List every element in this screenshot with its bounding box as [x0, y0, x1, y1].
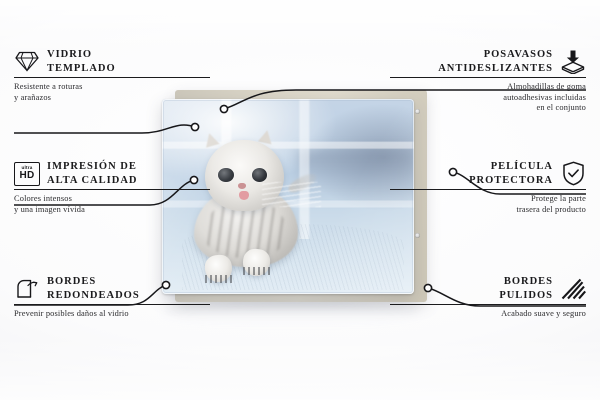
feature-description: Resistente a roturas y arañazos [14, 82, 210, 103]
feature-title-line1: POSAVASOS [484, 49, 553, 60]
feature-title-line2: TEMPLADO [47, 63, 116, 74]
feature-posavasos-antideslizantes: POSAVASOS ANTIDESLIZANTES Almohadillas d… [390, 48, 586, 114]
kitten-toes-right [243, 267, 270, 275]
feature-heading: POSAVASOS ANTIDESLIZANTES [390, 48, 586, 75]
feature-desc-line2: y arañazos [14, 93, 51, 102]
feature-heading: VIDRIO TEMPLADO [14, 48, 210, 75]
feature-divider [14, 304, 210, 305]
kitten-eye-left [218, 168, 234, 182]
hd-badge-hd-text: HD [19, 171, 34, 181]
feature-heading: PELÍCULA PROTECTORA [390, 160, 586, 187]
feature-title-line2: PROTECTORA [469, 175, 553, 186]
feature-desc-line1: Colores intensos [14, 194, 72, 203]
feature-title: POSAVASOS ANTIDESLIZANTES [438, 48, 553, 75]
feature-heading: ultra HD IMPRESIÓN DE ALTA CALIDAD [14, 160, 210, 187]
anti-slip-pad-icon [560, 49, 586, 75]
rounded-corner-icon [14, 276, 40, 302]
hatch-lines-icon [560, 276, 586, 302]
feature-title-line2: REDONDEADOS [47, 290, 140, 301]
feature-title-line2: PULIDOS [499, 290, 553, 301]
feature-title: IMPRESIÓN DE ALTA CALIDAD [47, 160, 137, 187]
feature-title: VIDRIO TEMPLADO [47, 48, 116, 75]
feature-title-line1: BORDES [504, 276, 553, 287]
mounting-screw-icon [415, 233, 420, 238]
feature-title-line1: VIDRIO [47, 49, 92, 60]
feature-desc-line1: Prevenir posibles daños al vidrio [14, 309, 129, 318]
feature-description: Protege la parte trasera del producto [390, 194, 586, 215]
feature-desc-line3: en el conjunto [536, 103, 586, 112]
feature-desc-line2: autoadhesivas incluidas [503, 93, 586, 102]
feature-description: Acabado suave y seguro [390, 309, 586, 320]
feature-impresion-alta-calidad: ultra HD IMPRESIÓN DE ALTA CALIDAD Color… [14, 160, 210, 215]
infographic-stage: VIDRIO TEMPLADO Resistente a roturas y a… [0, 0, 600, 400]
feature-bordes-pulidos: BORDES PULIDOS Acabado suave y seguro [390, 275, 586, 320]
feature-title: BORDES REDONDEADOS [47, 275, 140, 302]
feature-desc-line1: Resistente a roturas [14, 82, 83, 91]
feature-divider [14, 189, 210, 190]
feature-title: BORDES PULIDOS [499, 275, 553, 302]
kitten-eye-right [252, 168, 268, 182]
feature-title-line2: ANTIDESLIZANTES [438, 63, 553, 74]
feature-vidrio-templado: VIDRIO TEMPLADO Resistente a roturas y a… [14, 48, 210, 103]
feature-pelicula-protectora: PELÍCULA PROTECTORA Protege la parte tra… [390, 160, 586, 215]
feature-divider [390, 304, 586, 305]
feature-desc-line1: Protege la parte [531, 194, 586, 203]
feature-description: Colores intensos y una imagen vívida [14, 194, 210, 215]
feature-title: PELÍCULA PROTECTORA [469, 160, 553, 187]
feature-description: Almohadillas de goma autoadhesivas inclu… [390, 82, 586, 114]
kitten-ear-left [202, 132, 219, 148]
diamond-icon [14, 49, 40, 75]
feature-heading: BORDES REDONDEADOS [14, 275, 210, 302]
feature-heading: BORDES PULIDOS [390, 275, 586, 302]
feature-divider [390, 77, 586, 78]
feature-bordes-redondeados: BORDES REDONDEADOS Prevenir posibles dañ… [14, 275, 210, 320]
hd-badge-box: ultra HD [14, 162, 40, 186]
feature-divider [390, 189, 586, 190]
feature-desc-line1: Almohadillas de goma [507, 82, 586, 91]
feature-title-line2: ALTA CALIDAD [47, 175, 137, 186]
feature-divider [14, 77, 210, 78]
feature-title-line1: IMPRESIÓN DE [47, 161, 137, 172]
shield-check-icon [560, 161, 586, 187]
feature-desc-line1: Acabado suave y seguro [501, 309, 586, 318]
kitten-whiskers [262, 182, 321, 207]
feature-desc-line2: trasera del producto [516, 205, 586, 214]
feature-description: Prevenir posibles daños al vidrio [14, 309, 210, 320]
ultra-hd-badge-icon: ultra HD [14, 161, 40, 187]
feature-title-line1: PELÍCULA [491, 161, 553, 172]
feature-title-line1: BORDES [47, 276, 96, 287]
feature-desc-line2: y una imagen vívida [14, 205, 85, 214]
